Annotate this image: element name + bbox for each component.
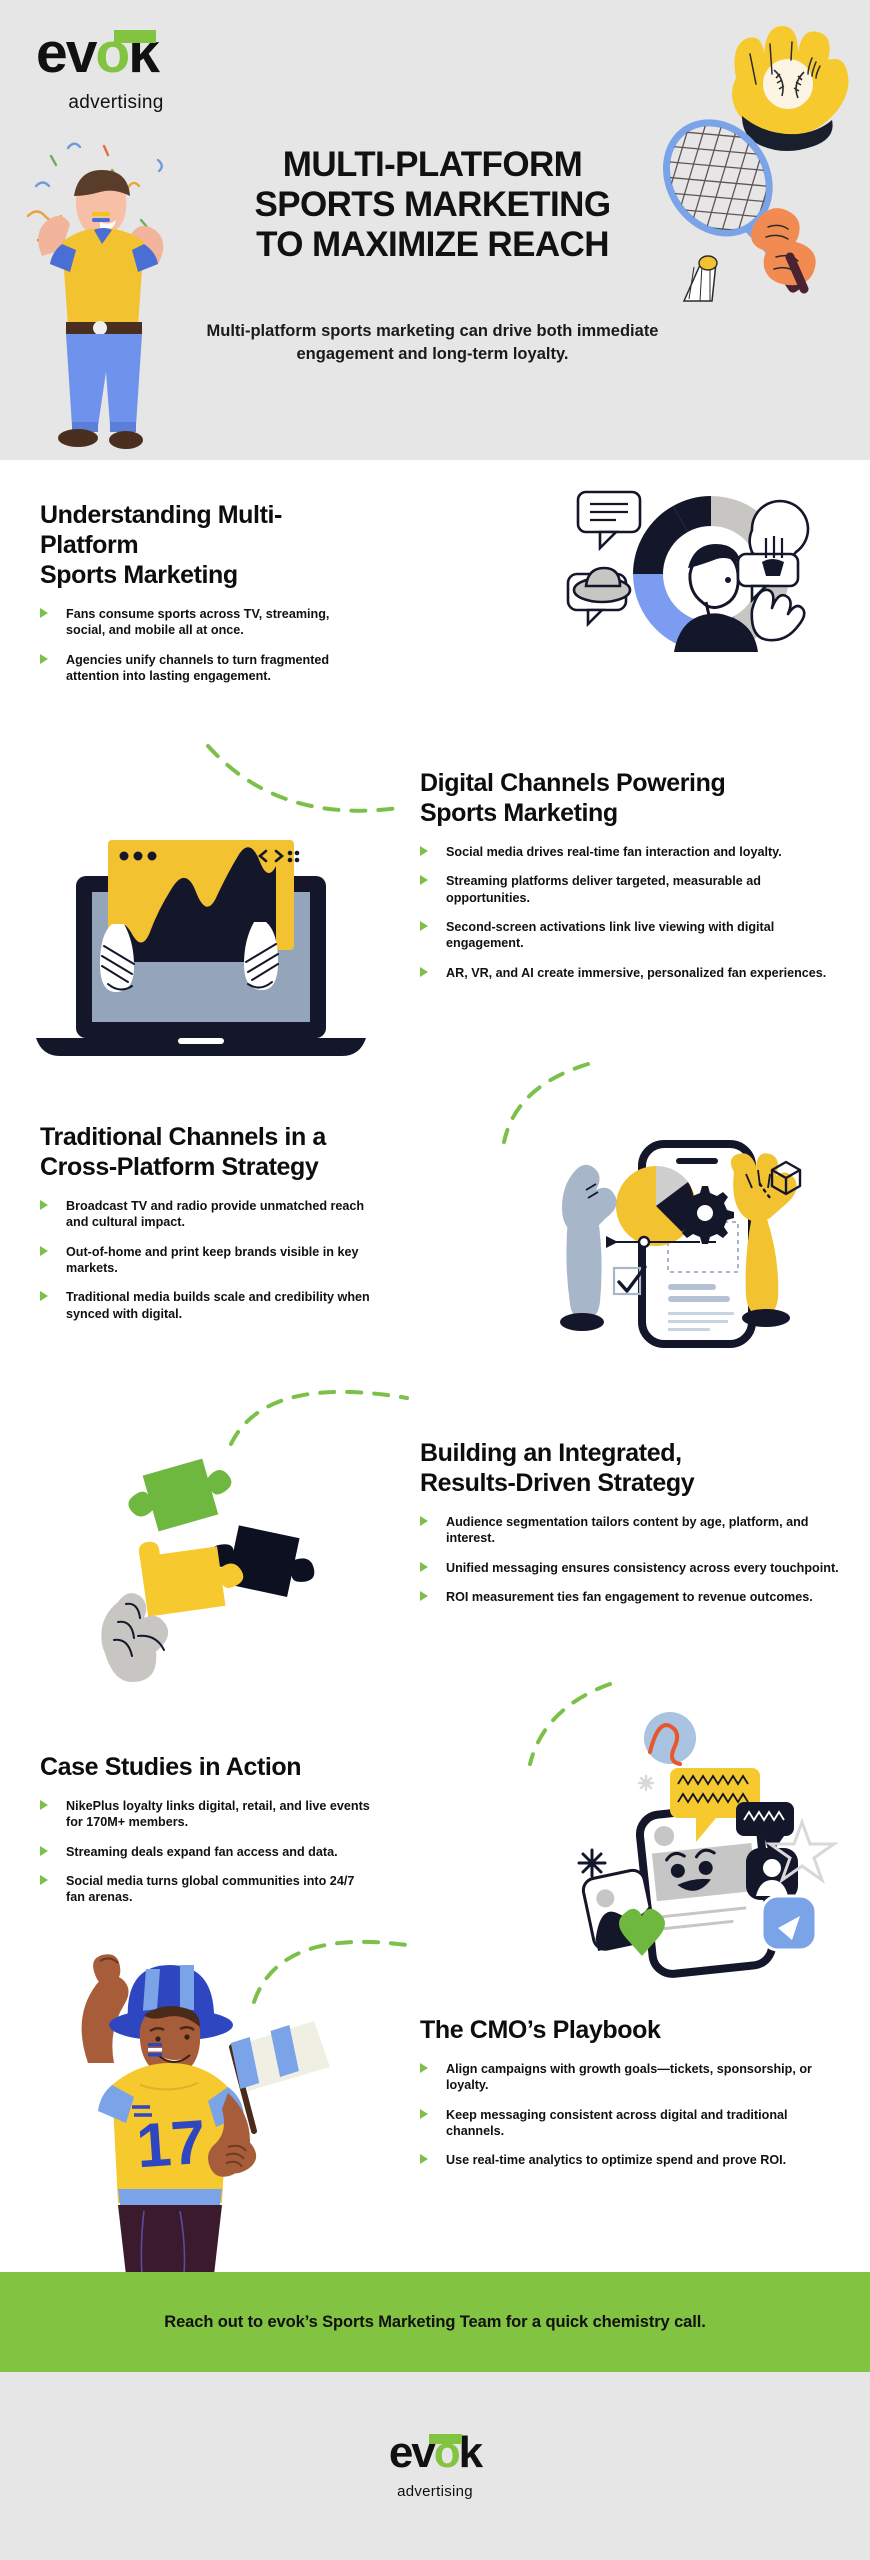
section-title: Digital Channels Powering Sports Marketi…: [420, 768, 840, 828]
section-traditional-channels: Traditional Channels in a Cross-Platform…: [0, 1100, 870, 1400]
list-item: Second-screen activations link live view…: [420, 919, 840, 952]
arrow-bullet-icon: [40, 654, 48, 664]
donut-chart-person-illustration: [556, 482, 856, 712]
arrow-bullet-icon: [40, 1800, 48, 1810]
cta-banner[interactable]: Reach out to evok’s Sports Marketing Tea…: [0, 2272, 870, 2372]
page-subtitle: Multi-platform sports marketing can driv…: [175, 320, 690, 367]
section-title: Understanding Multi-Platform Sports Mark…: [40, 500, 370, 590]
puzzle-pieces-illustration: [100, 1440, 370, 1670]
arrow-bullet-icon: [420, 2154, 428, 2164]
footer-logo[interactable]: evok advertising: [369, 2433, 501, 2500]
arrow-bullet-icon: [40, 1875, 48, 1885]
list-item: Agencies unify channels to turn fragment…: [40, 652, 370, 685]
arrow-bullet-icon: [40, 1246, 48, 1256]
section-title: Traditional Channels in a Cross-Platform…: [40, 1122, 370, 1182]
cta-prefix: Reach out to: [164, 2313, 267, 2331]
fan-with-flag-illustration: 17: [40, 1935, 330, 2275]
list-item: Fans consume sports across TV, streaming…: [40, 606, 370, 639]
section-bullet-list: Social media drives real-time fan intera…: [420, 844, 840, 981]
list-item: ROI measurement ties fan engagement to r…: [420, 1589, 840, 1605]
list-item: Streaming deals expand fan access and da…: [40, 1844, 370, 1860]
section-integrated-strategy: Building an Integrated, Results-Driven S…: [0, 1420, 870, 1700]
arrow-bullet-icon: [420, 846, 428, 856]
cheering-fan-illustration: [8, 130, 208, 450]
section-cmo-playbook-text: The CMO’s Playbook Align campaigns with …: [420, 2015, 840, 2182]
brand-logo[interactable]: evok advertising: [36, 28, 206, 114]
smartphone-settings-illustration: [520, 1126, 850, 1366]
arrow-bullet-icon: [420, 1516, 428, 1526]
list-item: Traditional media builds scale and credi…: [40, 1289, 370, 1322]
list-item: Audience segmentation tailors content by…: [420, 1514, 840, 1547]
brand-logo-bar: [114, 30, 156, 43]
header-banner: evok advertising: [0, 0, 870, 460]
section-bullet-list: Broadcast TV and radio provide unmatched…: [40, 1198, 370, 1322]
arrow-bullet-icon: [40, 1291, 48, 1301]
social-phone-reactions-illustration: [550, 1690, 860, 1970]
arrow-bullet-icon: [40, 1846, 48, 1856]
baseball-glove-illustration: [712, 14, 852, 154]
arrow-bullet-icon: [420, 875, 428, 885]
brand-logo-tagline: advertising: [36, 92, 196, 114]
list-item: Keep messaging consistent across digital…: [420, 2107, 840, 2140]
section-understanding: Understanding Multi-Platform Sports Mark…: [0, 460, 870, 730]
jersey-number: 17: [134, 2108, 208, 2182]
arrow-bullet-icon: [420, 921, 428, 931]
section-title: Building an Integrated, Results-Driven S…: [420, 1438, 840, 1498]
list-item: Social media turns global communities in…: [40, 1873, 370, 1906]
arrow-bullet-icon: [40, 608, 48, 618]
arrow-bullet-icon: [420, 2109, 428, 2119]
section-digital-channels-text: Digital Channels Powering Sports Marketi…: [420, 768, 840, 994]
badminton-racket-illustration: [650, 105, 870, 315]
section-understanding-text: Understanding Multi-Platform Sports Mark…: [40, 500, 370, 697]
list-item: Use real-time analytics to optimize spen…: [420, 2152, 840, 2168]
section-title: Case Studies in Action: [40, 1752, 370, 1782]
footer-logo-tagline: advertising: [373, 2483, 497, 2500]
section-case-studies: Case Studies in Action NikePlus loyalty …: [0, 1700, 870, 1970]
list-item: Streaming platforms deliver targeted, me…: [420, 873, 840, 906]
section-case-studies-text: Case Studies in Action NikePlus loyalty …: [40, 1752, 370, 1919]
section-integrated-strategy-text: Building an Integrated, Results-Driven S…: [420, 1438, 840, 1618]
list-item: Unified messaging ensures consistency ac…: [420, 1560, 840, 1576]
page-title: MULTI-PLATFORM SPORTS MARKETING TO MAXIM…: [205, 145, 660, 265]
footer-logo-bar: [429, 2434, 462, 2444]
list-item: Align campaigns with growth goals—ticket…: [420, 2061, 840, 2094]
list-item: AR, VR, and AI create immersive, persona…: [420, 965, 840, 981]
list-item: Out-of-home and print keep brands visibl…: [40, 1244, 370, 1277]
section-title: The CMO’s Playbook: [420, 2015, 840, 2045]
laptop-data-window-illustration: [28, 818, 373, 1063]
cta-bold: evok’s Sports Marketing Team: [267, 2313, 501, 2331]
list-item: Social media drives real-time fan intera…: [420, 844, 840, 860]
list-item: NikePlus loyalty links digital, retail, …: [40, 1798, 370, 1831]
section-bullet-list: Fans consume sports across TV, streaming…: [40, 606, 370, 684]
arrow-bullet-icon: [420, 2063, 428, 2073]
section-cmo-playbook: 17 The CMO’s Playbook Align campaigns wi…: [0, 1955, 870, 2265]
section-traditional-channels-text: Traditional Channels in a Cross-Platform…: [40, 1122, 370, 1335]
section-bullet-list: Align campaigns with growth goals—ticket…: [420, 2061, 840, 2169]
cta-suffix: for a quick chemistry call.: [501, 2313, 705, 2331]
footer: evok advertising: [0, 2372, 870, 2560]
section-bullet-list: NikePlus loyalty links digital, retail, …: [40, 1798, 370, 1906]
arrow-bullet-icon: [420, 1562, 428, 1572]
section-bullet-list: Audience segmentation tailors content by…: [420, 1514, 840, 1605]
arrow-bullet-icon: [40, 1200, 48, 1210]
arrow-bullet-icon: [420, 1591, 428, 1601]
section-digital-channels: Digital Channels Powering Sports Marketi…: [0, 760, 870, 1080]
arrow-bullet-icon: [420, 967, 428, 977]
list-item: Broadcast TV and radio provide unmatched…: [40, 1198, 370, 1231]
cta-text: Reach out to evok’s Sports Marketing Tea…: [164, 2313, 705, 2332]
